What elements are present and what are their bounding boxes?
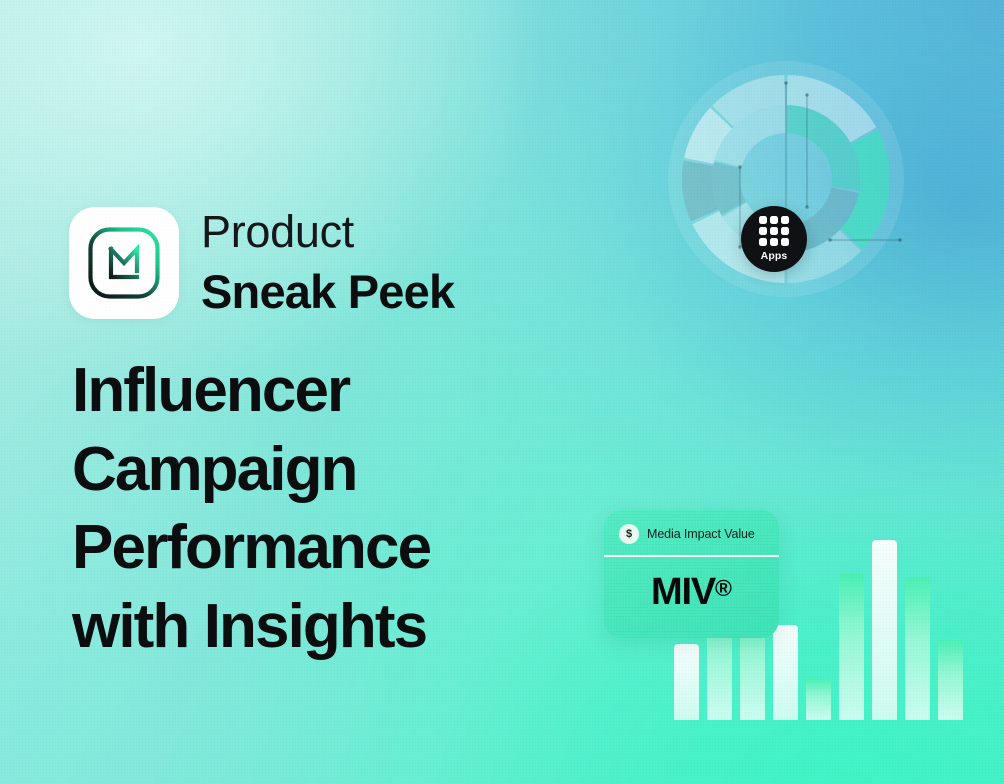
- miv-card-title: MIV®: [604, 571, 779, 614]
- bar-chart-bar: [806, 678, 831, 720]
- kicker-text-block: Product Sneak Peek: [201, 206, 454, 320]
- kicker-line-sneak-peek: Sneak Peek: [201, 265, 454, 320]
- miv-card-header-label: Media Impact Value: [647, 527, 755, 541]
- apps-grid-dot: [781, 216, 789, 224]
- launchmetrics-m-logo-icon: [69, 207, 179, 319]
- apps-grid-dot: [781, 238, 789, 246]
- bar-chart-bar: [674, 644, 699, 720]
- donut-leader-dot: [805, 93, 808, 96]
- headline-line-3: Performance: [72, 509, 542, 588]
- miv-card: $ Media Impact Value MIV®: [604, 510, 779, 638]
- bar-chart-bar: [773, 625, 798, 720]
- sneak-peek-promo-canvas: Apps $ Media Impact Value MIV®: [0, 0, 1004, 784]
- donut-leader-dot: [784, 81, 787, 84]
- apps-grid-icon: [759, 216, 789, 246]
- donut-leader-dot: [828, 238, 831, 241]
- apps-grid-dot: [770, 227, 778, 235]
- headline-line-2: Campaign: [72, 431, 542, 510]
- miv-card-header: $ Media Impact Value: [604, 510, 779, 544]
- apps-grid-dot: [759, 216, 767, 224]
- apps-badge[interactable]: Apps: [741, 206, 807, 272]
- dollar-circle-icon: $: [619, 524, 639, 544]
- apps-grid-dot: [759, 238, 767, 246]
- bar-chart-bar: [938, 640, 963, 720]
- apps-grid-dot: [770, 216, 778, 224]
- miv-trademark-mark: ®: [715, 575, 732, 601]
- bar-chart-bar: [905, 577, 930, 720]
- headline-line-1: Influencer: [72, 352, 542, 431]
- donut-leader-dot: [738, 165, 741, 168]
- apps-badge-label: Apps: [761, 250, 788, 262]
- apps-grid-dot: [759, 227, 767, 235]
- miv-card-title-text: MIV: [651, 571, 715, 613]
- kicker-line-product: Product: [201, 206, 454, 258]
- apps-grid-dot: [770, 238, 778, 246]
- page-title: InfluencerCampaignPerformancewith Insigh…: [72, 352, 542, 667]
- headline-line-4: with Insights: [72, 588, 542, 667]
- donut-leader-dot: [805, 205, 808, 208]
- donut-leader-dot: [898, 238, 901, 241]
- bar-chart-bar: [872, 540, 897, 720]
- miv-card-divider: [604, 555, 779, 557]
- apps-grid-dot: [781, 227, 789, 235]
- bar-chart-bar: [839, 574, 864, 720]
- brand-row: Product Sneak Peek: [69, 206, 454, 320]
